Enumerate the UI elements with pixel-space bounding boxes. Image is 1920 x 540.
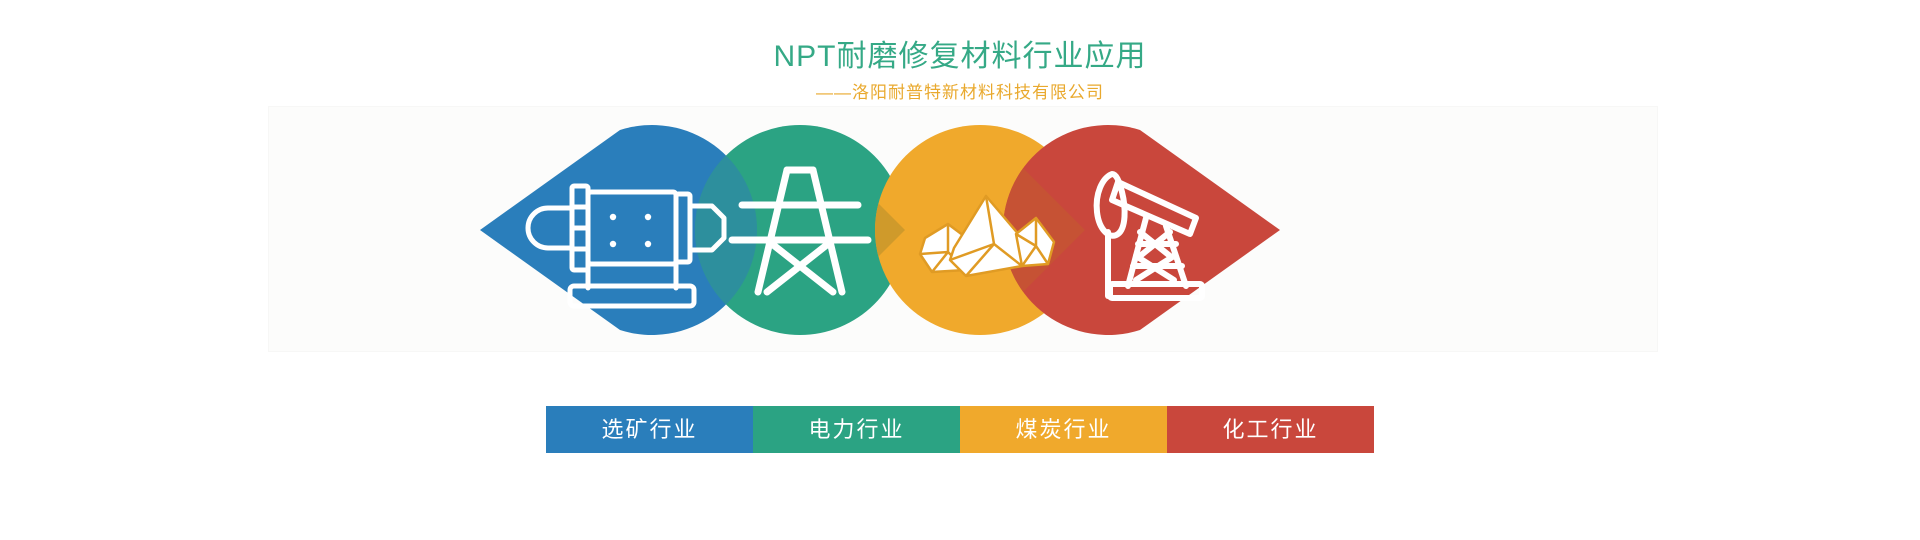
infographic-canvas: NPT耐磨修复材料行业应用 ——洛阳耐普特新材料科技有限公司 [0, 0, 1920, 540]
page-title: NPT耐磨修复材料行业应用 [0, 36, 1920, 78]
label-mining[interactable]: 选矿行业 [546, 406, 753, 453]
venn-diagram [480, 120, 1280, 340]
label-coal[interactable]: 煤炭行业 [960, 406, 1167, 453]
label-power[interactable]: 电力行业 [753, 406, 960, 453]
label-chemical[interactable]: 化工行业 [1167, 406, 1374, 453]
industry-label-bar: 选矿行业 电力行业 煤炭行业 化工行业 [546, 406, 1374, 453]
heading-block: NPT耐磨修复材料行业应用 ——洛阳耐普特新材料科技有限公司 [0, 36, 1920, 106]
page-subtitle: ——洛阳耐普特新材料科技有限公司 [0, 80, 1920, 106]
